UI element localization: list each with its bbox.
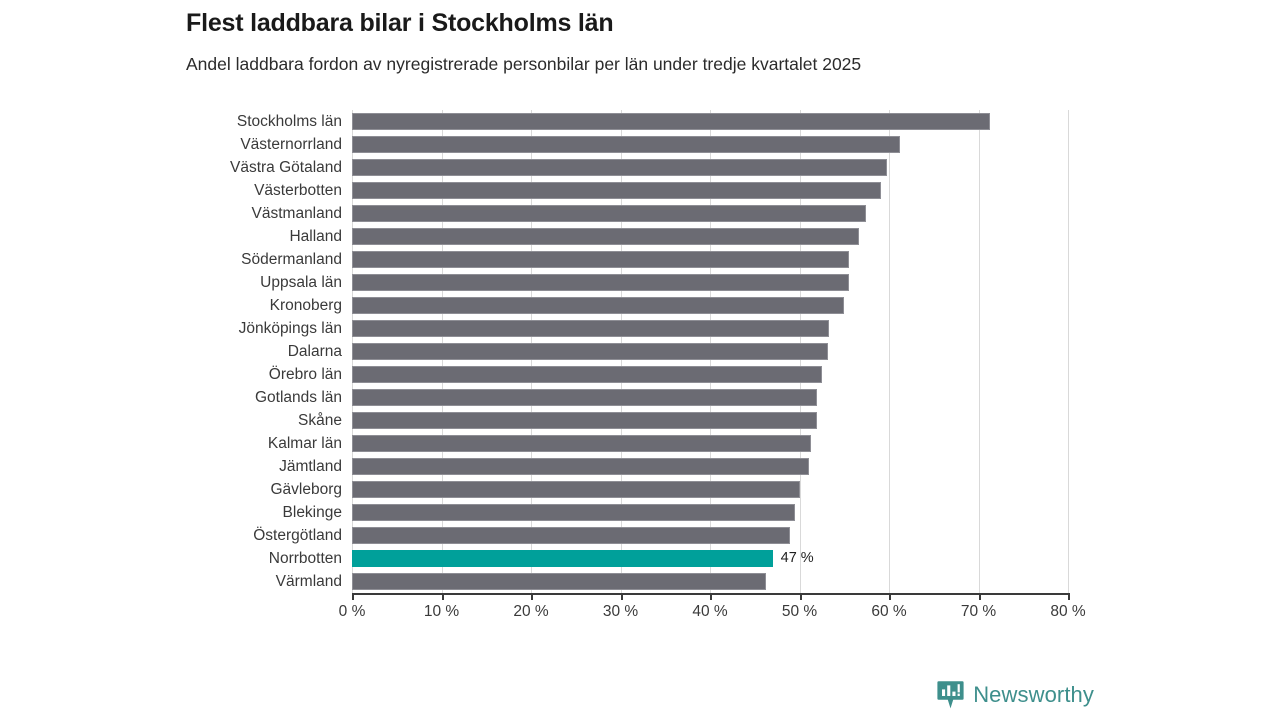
y-tick-label: Kronoberg — [270, 294, 342, 317]
brand-name: Newsworthy — [973, 682, 1094, 708]
y-tick-label: Örebro län — [269, 363, 342, 386]
x-tick-mark — [979, 593, 981, 600]
bar — [352, 228, 859, 245]
x-tick-label: 20 % — [513, 603, 548, 621]
bar — [352, 481, 800, 498]
bar — [352, 366, 822, 383]
bar — [352, 251, 849, 268]
y-tick-label: Jönköpings län — [239, 317, 342, 340]
x-tick-mark — [1068, 593, 1070, 600]
x-tick-label: 0 % — [339, 603, 366, 621]
x-tick-label: 50 % — [782, 603, 817, 621]
x-tick-label: 70 % — [961, 603, 996, 621]
x-tick-mark — [531, 593, 533, 600]
bar — [352, 412, 817, 429]
bar — [352, 205, 866, 222]
y-tick-label: Västmanland — [252, 202, 342, 225]
y-tick-label: Jämtland — [279, 455, 342, 478]
bar — [352, 389, 817, 406]
bar — [352, 504, 795, 521]
y-tick-label: Dalarna — [288, 340, 342, 363]
y-tick-label: Västerbotten — [254, 179, 342, 202]
y-tick-label: Skåne — [298, 409, 342, 432]
bar-chart: Stockholms länVästernorrlandVästra Götal… — [0, 110, 1280, 640]
x-tick-label: 60 % — [871, 603, 906, 621]
bar — [352, 343, 828, 360]
y-tick-label: Blekinge — [283, 501, 342, 524]
y-tick-label: Värmland — [276, 570, 342, 593]
bar — [352, 320, 829, 337]
bar — [352, 458, 809, 475]
bar-highlighted — [352, 550, 773, 567]
x-tick-mark — [352, 593, 354, 600]
bar — [352, 527, 790, 544]
x-tick-mark — [621, 593, 623, 600]
plot-area: 47 % — [352, 110, 1068, 593]
x-tick-mark — [889, 593, 891, 600]
y-tick-label: Gävleborg — [270, 478, 342, 501]
x-tick-label: 30 % — [603, 603, 638, 621]
x-tick-label: 40 % — [692, 603, 727, 621]
bar — [352, 182, 881, 199]
gridline — [1068, 110, 1069, 593]
y-tick-label: Södermanland — [241, 248, 342, 271]
gridline — [979, 110, 980, 593]
x-tick-label: 80 % — [1050, 603, 1085, 621]
y-tick-label: Stockholms län — [237, 110, 342, 133]
y-tick-label: Gotlands län — [255, 386, 342, 409]
y-tick-label: Västernorrland — [240, 133, 342, 156]
bar — [352, 435, 811, 452]
bar — [352, 159, 887, 176]
x-tick-label: 10 % — [424, 603, 459, 621]
x-tick-mark — [710, 593, 712, 600]
y-tick-label: Halland — [289, 225, 342, 248]
y-tick-label: Kalmar län — [268, 432, 342, 455]
chart-subtitle: Andel laddbara fordon av nyregistrerade … — [186, 38, 1186, 75]
y-tick-label: Västra Götaland — [230, 156, 342, 179]
newsworthy-logo: Newsworthy — [937, 680, 1094, 710]
page-title: Flest laddbara bilar i Stockholms län — [186, 8, 1186, 38]
y-tick-label: Uppsala län — [260, 271, 342, 294]
bar — [352, 113, 990, 130]
y-tick-label: Norrbotten — [269, 547, 342, 570]
x-tick-mark — [442, 593, 444, 600]
y-tick-label: Östergötland — [253, 524, 342, 547]
bar — [352, 573, 766, 590]
x-tick-mark — [800, 593, 802, 600]
chart-header: Flest laddbara bilar i Stockholms län An… — [186, 8, 1186, 75]
y-axis-label-group: Stockholms länVästernorrlandVästra Götal… — [150, 110, 342, 593]
bar-value-label: 47 % — [773, 550, 814, 567]
gridline — [889, 110, 890, 593]
bar — [352, 297, 844, 314]
bar — [352, 136, 900, 153]
bar — [352, 274, 849, 291]
bar-chart-badge-icon — [937, 680, 964, 710]
